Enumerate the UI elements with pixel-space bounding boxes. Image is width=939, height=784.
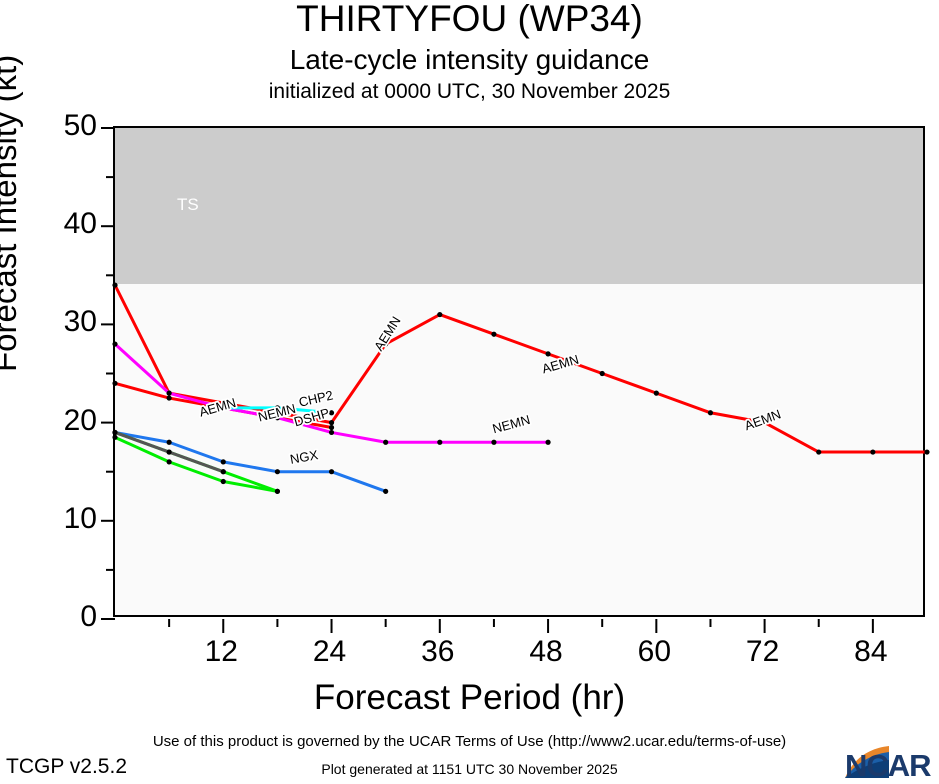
data-point-marker	[437, 312, 442, 317]
svg-text:AEMN: AEMN	[371, 314, 404, 354]
data-point-marker	[491, 440, 496, 445]
page-title: THIRTYFOU (WP34)	[0, 0, 939, 40]
y-axis-tick-label: 30	[0, 305, 97, 339]
data-point-marker	[167, 395, 172, 400]
series-inline-label: CHP2CHP2	[297, 387, 334, 409]
x-axis-tick-label: 60	[638, 635, 671, 669]
series-layer: AEMNAEMNNEMNNEMNCHP2CHP2DSHPDSHPAEMNAEMN…	[115, 128, 927, 619]
product-subtitle: Late-cycle intensity guidance	[0, 44, 939, 76]
plot-area: TS AEMNAEMNNEMNNEMNCHP2CHP2DSHPDSHPAEMNA…	[113, 126, 925, 617]
data-point-marker	[329, 420, 334, 425]
svg-text:NEMN: NEMN	[491, 412, 532, 436]
data-point-marker	[924, 449, 929, 454]
data-point-marker	[383, 489, 388, 494]
y-axis-tick-label: 10	[0, 502, 97, 536]
x-axis-tick-label: 84	[854, 635, 887, 669]
data-point-marker	[112, 430, 117, 435]
data-point-marker	[437, 440, 442, 445]
data-point-marker	[167, 459, 172, 464]
data-point-marker	[329, 469, 334, 474]
data-point-marker	[112, 341, 117, 346]
y-axis-tick-label: 20	[0, 404, 97, 438]
data-point-marker	[545, 440, 550, 445]
series-inline-label: NGXNGX	[289, 447, 320, 467]
data-point-marker	[275, 489, 280, 494]
plot-generated-text: Plot generated at 1151 UTC 30 November 2…	[0, 761, 939, 777]
data-point-marker	[545, 351, 550, 356]
data-point-marker	[112, 283, 117, 288]
x-axis-tick-label: 12	[205, 635, 238, 669]
y-axis-tick-label: 50	[0, 109, 97, 143]
data-point-marker	[870, 449, 875, 454]
x-axis-tick-label: 48	[529, 635, 562, 669]
data-point-marker	[383, 440, 388, 445]
data-point-marker	[221, 469, 226, 474]
svg-text:CHP2: CHP2	[297, 387, 334, 409]
series-inline-label: AEMNAEMN	[371, 314, 404, 354]
x-axis-tick-label: 36	[421, 635, 454, 669]
data-point-marker	[708, 410, 713, 415]
data-point-marker	[167, 449, 172, 454]
data-point-marker	[167, 440, 172, 445]
series-inline-label: NEMNNEMN	[491, 412, 532, 436]
data-point-marker	[329, 430, 334, 435]
initialization-time: initialized at 0000 UTC, 30 November 202…	[0, 80, 939, 104]
data-point-marker	[112, 381, 117, 386]
y-axis-tick-label: 40	[0, 207, 97, 241]
version-label: TCGP v2.5.2	[6, 755, 127, 779]
terms-of-use-text: Use of this product is governed by the U…	[0, 733, 939, 750]
x-axis-tick-label: 72	[746, 635, 779, 669]
data-point-marker	[329, 425, 334, 430]
data-point-marker	[167, 391, 172, 396]
data-point-marker	[600, 371, 605, 376]
x-axis-title: Forecast Period (hr)	[0, 678, 939, 718]
data-point-marker	[816, 449, 821, 454]
data-point-marker	[654, 391, 659, 396]
data-point-marker	[221, 459, 226, 464]
y-axis-tick-label: 0	[0, 600, 97, 634]
ncar-wordmark: NCAR	[845, 748, 931, 784]
chart-page: THIRTYFOU (WP34) Late-cycle intensity gu…	[0, 0, 939, 780]
data-point-marker	[221, 479, 226, 484]
data-point-marker	[491, 332, 496, 337]
data-point-marker	[112, 435, 117, 440]
x-axis-tick-label: 24	[313, 635, 346, 669]
data-point-marker	[275, 469, 280, 474]
svg-text:NGX: NGX	[289, 447, 320, 467]
data-point-marker	[329, 410, 334, 415]
